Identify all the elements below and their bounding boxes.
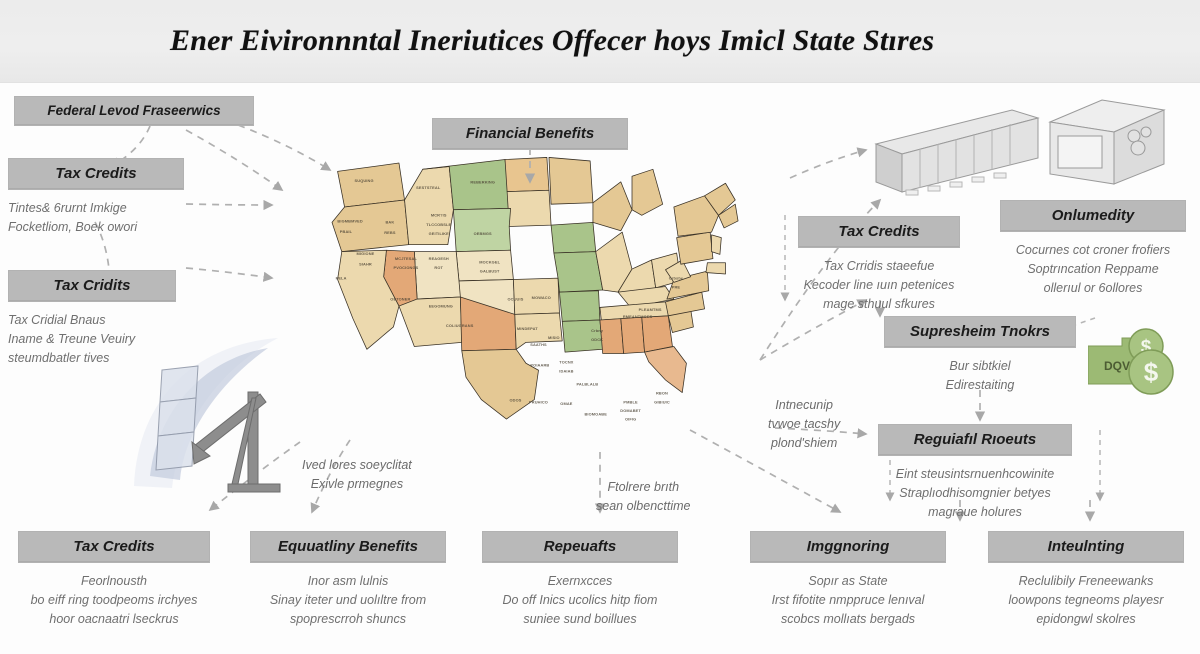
text-line: sean olbencttime (596, 497, 691, 516)
bottom-block-0-title: Tax Credits (18, 531, 210, 563)
map-state-label: PRE (672, 285, 681, 290)
map-state-label: OEBMGS (474, 231, 492, 236)
page-title: Ener Eivironnntal Ineriutices Offecer ho… (170, 24, 934, 58)
map-state-label: PLEAMTMS (639, 307, 662, 312)
map-state-label: PALBLALB (576, 382, 598, 387)
text-line: hoor oacnaatri lseckrus (18, 610, 210, 629)
map-state-label: PVOCIONGS (394, 265, 419, 270)
bottom-block-1[interactable]: Equuatliny Benefits Inor asm lulnis Sina… (250, 531, 446, 628)
left-block-1[interactable]: Tax Cridits Tax Cridial Bnaus Iname & Tr… (8, 270, 176, 367)
us-state-map[interactable]: SUQUINGBIGMBMVEDPBAILBAKREBSSESTSTEALREB… (252, 140, 772, 440)
left-block-1-title: Tax Cridits (8, 270, 176, 302)
text-line: ollerıul or 6ollores (1000, 279, 1186, 298)
map-state-label: BAK (385, 220, 394, 225)
text-line: epidongwl skolres (988, 610, 1184, 629)
text-line: Exernxcces (482, 572, 678, 591)
map-state-label: OIFIG (625, 416, 636, 421)
bottom-block-4-title: Inteulnting (988, 531, 1184, 563)
text-line: suniee sund boillues (482, 610, 678, 629)
text-line: Straplıodhisomgnier betyes (878, 484, 1072, 503)
text-line: Sopır as State (750, 572, 946, 591)
bottom-block-3-body: Sopır as State Irst fifotite nmppruce le… (750, 572, 946, 628)
float-label-0: Ived lores soeyclitat Exivle prmegnes (302, 456, 412, 494)
map-state-label: MCR?IS (431, 213, 447, 218)
bottom-block-3[interactable]: Imggnoring Sopır as State Irst fifotite … (750, 531, 946, 628)
text-line: scobcs mollıats bergads (750, 610, 946, 629)
map-state-label: MINDEPAT (517, 326, 538, 331)
text-line: Tintes& 6rurnt Imkige (8, 199, 184, 218)
map-state-label: OETONER (390, 296, 410, 301)
left-block-0-body: Tintes& 6rurnt Imkige Focketliom, Boek o… (8, 199, 184, 237)
building-illustration (1040, 92, 1170, 192)
map-state-label: SESTSTEAL (416, 185, 441, 190)
map-state-label: TOCNX (559, 359, 574, 364)
map-state-label: COLIUGRANS (446, 323, 474, 328)
text-line: Bur sibtkiel (884, 357, 1076, 376)
text-line: magraue holures (878, 503, 1072, 522)
map-state-label: GEITILIKE (429, 231, 450, 236)
right-block-3-body: Eint steusintsrnuenhcowinite Straplıodhi… (878, 465, 1072, 521)
text-line: Intnecunip (768, 396, 840, 415)
text-line: Ftolrere brıth (596, 478, 691, 497)
bottom-block-0-body: Feorlnousth bo eiff ring toodpeoms irchy… (18, 572, 210, 628)
map-state-label: MOCKGEL (479, 259, 500, 264)
map-state-label: GIBIUIC (654, 400, 670, 405)
text-line: steumdbatler tives (8, 349, 176, 368)
text-line: Tax Crridis staeefue (798, 257, 960, 276)
text-line: plond'shiem (768, 434, 840, 453)
map-state-label: MCJTESAL (395, 256, 418, 261)
bottom-block-1-title: Equuatliny Benefits (250, 531, 446, 563)
us-map-svg: SUQUINGBIGMBMVEDPBAILBAKREBSSESTSTEALREB… (252, 140, 772, 440)
money-coins-illustration[interactable]: DQV $ $ (1088, 328, 1188, 414)
text-line: Focketliom, Boek owori (8, 218, 184, 237)
infographic-canvas: Ener Eivironnntal Ineriutices Offecer ho… (0, 0, 1200, 654)
text-line: Feorlnousth (18, 572, 210, 591)
right-block-0-body: Tax Crridis staeefue Kecoder line ıuın p… (798, 257, 960, 313)
map-state-label: BIOMOABE (584, 412, 607, 417)
text-line: Cocurnes cot croner frofiers (1000, 241, 1186, 260)
text-line: mage sthuul sfkures (798, 295, 960, 314)
money-label: DQV (1104, 359, 1130, 373)
header-bar: Ener Eivironnntal Ineriutices Offecer ho… (0, 0, 1200, 83)
map-state-label: Crbny (591, 328, 604, 333)
bottom-block-2[interactable]: Repeuafts Exernxcces Do off Inics ucolic… (482, 531, 678, 628)
text-line: Edirestaiting (884, 376, 1076, 395)
bottom-block-3-title: Imggnoring (750, 531, 946, 563)
bottom-block-4-body: Reclulibily Freneewanks loowpons tegneom… (988, 572, 1184, 628)
text-line: Irst fifotite nmppruce lenıval (750, 591, 946, 610)
map-state-label: SAATHS (530, 342, 547, 347)
federal-framework-banner[interactable]: Federal Levod Fraseerwics (14, 96, 254, 126)
map-state-label: REBS (384, 230, 396, 235)
text-line: Sinay iteter und uolıltre from (250, 591, 446, 610)
solar-panel-array-illustration (862, 96, 1052, 196)
text-line: bo eiff ring toodpeoms irchyes (18, 591, 210, 610)
federal-framework-label: Federal Levod Fraseerwics (14, 96, 254, 126)
map-state-label: SUQUING (355, 178, 374, 183)
svg-text:$: $ (1144, 357, 1159, 387)
map-state-label: MIGIONE (357, 251, 375, 256)
map-state-label: BIGMBMVED (337, 218, 363, 223)
financial-benefits-block[interactable]: Financial Benefits (432, 118, 628, 150)
right-block-0[interactable]: Tax Credits Tax Crridis staeefue Kecoder… (798, 216, 960, 313)
text-line: Ived lores soeyclitat (302, 456, 412, 475)
map-state-label: OCUUIS (508, 296, 524, 301)
right-block-1[interactable]: Onlumedity Cocurnes cot croner frofiers … (1000, 200, 1186, 297)
text-line: Eint steusintsrnuenhcowinite (878, 465, 1072, 484)
text-line: Reclulibily Freneewanks (988, 572, 1184, 591)
map-state-label: ODCK (591, 337, 603, 342)
float-label-2: Intnecunip tvwoe tacshy plond'shiem (768, 396, 840, 452)
bottom-block-1-body: Inor asm lulnis Sinay iteter und uolıltr… (250, 572, 446, 628)
right-block-0-title: Tax Credits (798, 216, 960, 248)
map-state-label: MISIO (548, 335, 560, 340)
map-state-label: GALBUST (480, 269, 500, 274)
map-state-label: OMAE (560, 401, 572, 406)
map-state-label: SIAHR (359, 262, 372, 267)
bottom-block-2-body: Exernxcces Do off Inics ucolics hitp fio… (482, 572, 678, 628)
text-line: Inor asm lulnis (250, 572, 446, 591)
map-state-label: DOMABET (620, 408, 641, 413)
bottom-block-0[interactable]: Tax Credits Feorlnousth bo eiff ring too… (18, 531, 210, 628)
map-state-label: EEGOMUNG (429, 303, 453, 308)
map-state-label: ROT (434, 265, 443, 270)
financial-benefits-title: Financial Benefits (432, 118, 628, 150)
text-line: Iname & Treune Veuiry (8, 330, 176, 349)
map-state-label: REAGESH (429, 256, 449, 261)
map-state-label: IDAIAB (559, 368, 573, 373)
text-line: Kecoder line ıuın petenices (798, 276, 960, 295)
left-block-0[interactable]: Tax Credits Tintes& 6rurnt Imkige Focket… (8, 158, 184, 237)
map-state-label: PELA (336, 276, 347, 281)
left-block-0-title: Tax Credits (8, 158, 184, 190)
right-block-2[interactable]: Supresheim Tnokrs Bur sibtkiel Edirestai… (884, 316, 1076, 395)
map-state-label: PRUHICO (529, 400, 548, 405)
map-state-label: RMEANTMGES (623, 314, 653, 319)
text-line: spoprescrroh shuncs (250, 610, 446, 629)
bottom-block-2-title: Repeuafts (482, 531, 678, 563)
float-label-1: Ftolrere brıth sean olbencttime (596, 478, 691, 516)
text-line: Tax Cridial Bnaus (8, 311, 176, 330)
right-block-3-title: Reguiafıl Rıoeuts (878, 424, 1072, 456)
right-block-1-body: Cocurnes cot croner frofiers Soptrıncati… (1000, 241, 1186, 297)
map-state-label: PMBLE (623, 400, 638, 405)
map-state-label: MOWACO (532, 295, 551, 300)
map-state-label: RBON (656, 391, 668, 396)
right-block-3[interactable]: Reguiafıl Rıoeuts Eint steusintsrnuenhco… (878, 424, 1072, 521)
text-line: loowpons tegneoms playesr (988, 591, 1184, 610)
text-line: Soptrıncation Reppame (1000, 260, 1186, 279)
text-line: Exivle prmegnes (302, 475, 412, 494)
text-line: Do off Inics ucolics hitp fiom (482, 591, 678, 610)
text-line: tvwoe tacshy (768, 415, 840, 434)
left-block-1-body: Tax Cridial Bnaus Iname & Treune Veuiry … (8, 311, 176, 367)
right-block-2-body: Bur sibtkiel Edirestaiting (884, 357, 1076, 395)
map-state-label: POIAARB (530, 363, 549, 368)
map-state-label: Grbsbe (669, 276, 684, 281)
right-block-1-title: Onlumedity (1000, 200, 1186, 232)
map-state-label: PBAIL (340, 229, 353, 234)
map-state-label: TLCCOBSLE (426, 222, 451, 227)
right-block-2-title: Supresheim Tnokrs (884, 316, 1076, 348)
map-state-label: ODOS (509, 398, 521, 403)
bottom-block-4[interactable]: Inteulnting Reclulibily Freneewanks loow… (988, 531, 1184, 628)
map-state-label: REBERKING (470, 179, 495, 184)
